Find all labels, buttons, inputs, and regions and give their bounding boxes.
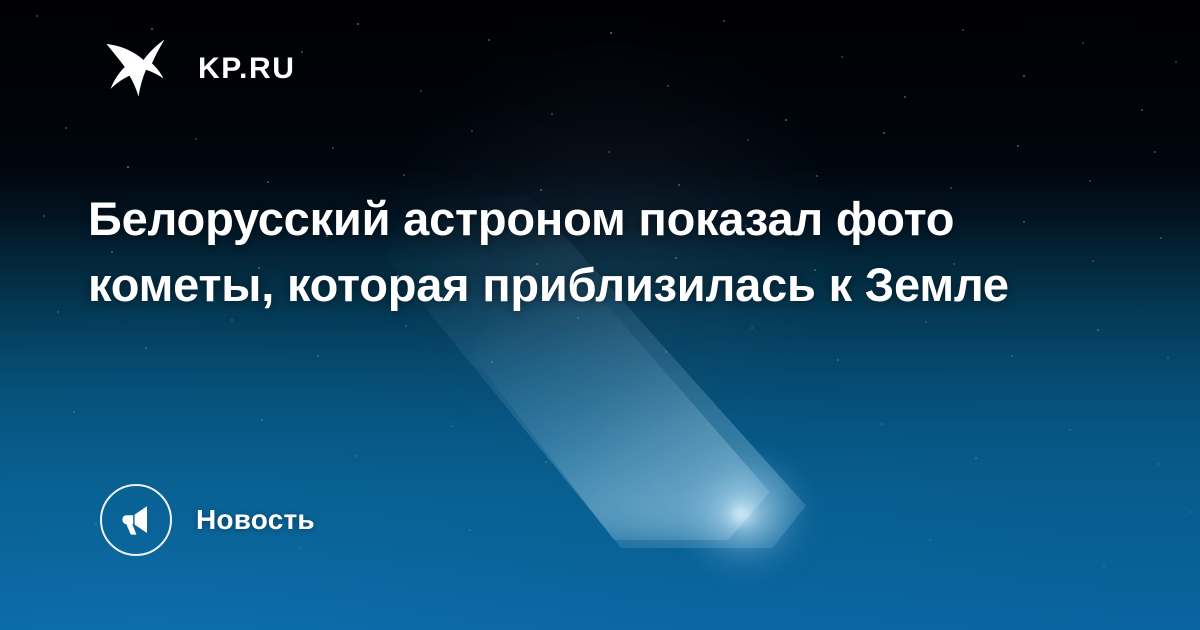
star-dot [317,355,319,357]
star-dot [785,119,788,122]
star-dot [1017,145,1019,147]
star-dot [357,23,360,26]
brand-name-label: KP.RU [198,54,295,84]
star-dot [57,311,59,313]
star-dot [929,539,931,541]
star-dot [43,215,45,217]
star-dot [1167,357,1169,359]
star-dot [403,174,405,176]
star-dot [610,32,613,35]
star-dot [904,96,906,98]
star-dot [925,321,927,323]
star-dot [301,51,303,53]
star-dot [145,347,147,349]
news-share-card: KP.RU Белорусский астроном показал фото … [0,0,1200,630]
star-dot [1141,109,1143,111]
star-dot [551,113,553,115]
star-dot [332,147,334,149]
star-dot [1154,151,1156,153]
star-dot [667,85,669,87]
star-dot [1092,260,1094,262]
headline-title: Белорусский астроном показал фото кометы… [88,186,1048,318]
star-dot [883,132,886,135]
star-dot [1089,180,1091,182]
star-dot [488,39,490,41]
star-dot [355,455,357,457]
swallow-bird-icon [104,36,176,102]
star-dot [469,529,471,531]
star-dot [1175,61,1177,63]
star-dot [151,28,153,30]
star-dot [881,423,883,425]
star-dot [1082,42,1084,44]
star-dot [1011,355,1013,357]
star-dot [1160,237,1162,239]
star-dot [608,151,610,153]
star-dot [471,130,473,132]
star-dot [837,359,839,361]
star-dot [405,325,407,327]
star-dot [491,361,493,363]
star-dot [545,461,547,463]
star-dot [1103,565,1105,567]
brand-logo-group[interactable]: KP.RU [104,36,295,102]
star-dot [267,181,269,183]
star-dot [841,56,843,58]
star-dot [95,523,97,525]
star-dot [1069,429,1071,431]
star-dot [723,20,725,22]
star-dot [1189,511,1191,513]
star-dot [167,447,169,449]
star-dot [451,425,453,427]
star-dot [975,457,977,459]
star-dot [195,138,197,140]
star-dot [261,419,263,421]
star-dot [751,327,753,329]
megaphone-icon [118,502,154,538]
star-dot [747,139,749,141]
news-type-badge[interactable]: Новость [100,484,315,556]
star-dot [231,319,233,321]
star-dot [1097,329,1100,332]
star-dot [36,15,38,17]
star-dot [65,127,67,129]
star-dot [73,411,75,413]
star-dot [665,351,667,353]
star-dot [127,166,130,169]
badge-label: Новость [196,506,315,534]
star-dot [1023,75,1026,78]
star-dot [962,29,964,31]
star-dot [420,90,422,92]
star-dot [1157,463,1159,465]
star-dot [816,175,818,177]
badge-circle [100,484,172,556]
